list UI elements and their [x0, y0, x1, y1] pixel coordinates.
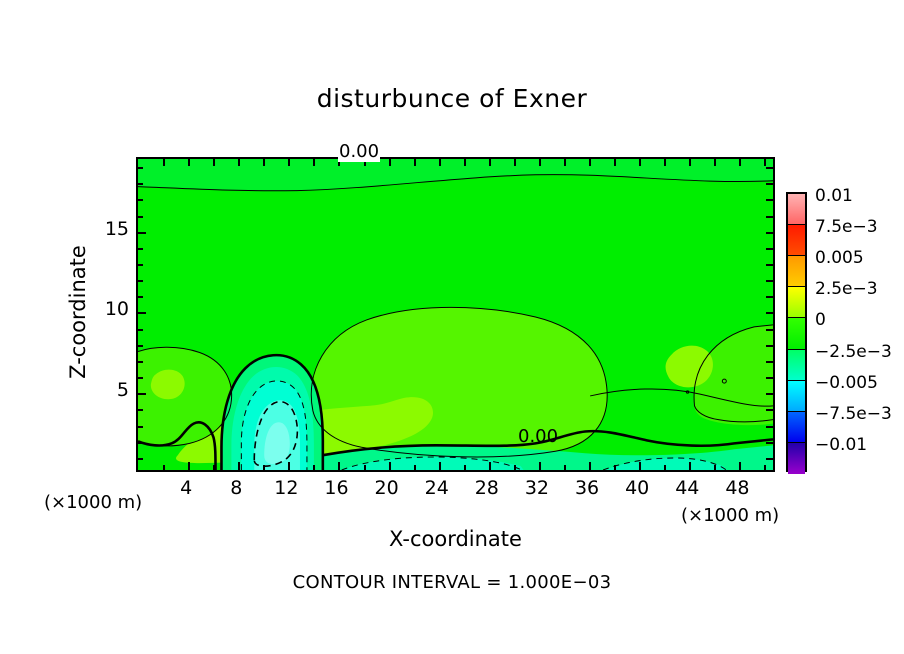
x-tick [238, 462, 240, 470]
y-tick [766, 393, 773, 395]
y-tick [766, 442, 773, 444]
x-tick [313, 465, 315, 470]
x-tick-label: 28 [462, 477, 512, 499]
x-tick-label: 20 [362, 477, 412, 499]
y-tick [766, 426, 773, 428]
x-tick-label: 40 [612, 477, 662, 499]
colorbar-tick-label: 7.5e−3 [815, 217, 878, 237]
colorbar-band[interactable] [788, 318, 805, 349]
x-tick [514, 159, 516, 166]
x-tick [263, 465, 265, 470]
x-tick [664, 159, 666, 166]
x-axis-title: X-coordinate [136, 527, 775, 551]
x-tick-label: 24 [412, 477, 462, 499]
y-tick [766, 264, 773, 266]
x-tick [714, 159, 716, 166]
y-tick [138, 442, 143, 444]
x-tick [439, 159, 441, 166]
y-tick [766, 312, 773, 314]
contour-label-zero-top: 0.00 [338, 141, 380, 162]
x-unit-left-label: (×1000 m) [44, 492, 142, 513]
y-tick [766, 296, 773, 298]
y-tick [138, 409, 143, 411]
y-tick [766, 345, 773, 347]
x-tick [364, 465, 366, 470]
colorbar[interactable] [786, 192, 807, 472]
x-tick-label: 8 [211, 477, 261, 499]
x-tick [188, 462, 190, 470]
x-tick [614, 159, 616, 166]
colorbar-tick-label: 0.01 [815, 186, 853, 206]
y-tick [138, 426, 143, 428]
colorbar-band[interactable] [788, 443, 805, 474]
page-title: disturbunce of Exner [0, 84, 904, 113]
contour-plot-area[interactable] [136, 157, 775, 472]
x-tick-label: 12 [261, 477, 311, 499]
colorbar-tick-label: −0.005 [815, 373, 878, 393]
y-tick [766, 361, 773, 363]
y-tick [138, 280, 143, 282]
x-tick [414, 159, 416, 166]
y-tick [138, 199, 143, 201]
x-tick-label: 16 [311, 477, 361, 499]
y-tick [138, 296, 143, 298]
x-tick [614, 465, 616, 470]
x-unit-right-label: (×1000 m) [681, 505, 779, 526]
x-tick [589, 159, 591, 166]
x-tick [689, 462, 691, 470]
x-tick-label: 36 [562, 477, 612, 499]
contour-label-zero-lower: 0.00 [518, 426, 558, 447]
y-tick [766, 183, 773, 185]
y-tick [138, 329, 143, 331]
x-tick [163, 465, 165, 470]
y-tick [138, 345, 143, 347]
y-tick-label: 10 [95, 298, 129, 320]
x-tick [439, 462, 441, 470]
colorbar-tick-label: 2.5e−3 [815, 279, 878, 299]
y-tick [766, 329, 773, 331]
y-tick [766, 167, 773, 169]
y-tick [138, 167, 143, 169]
y-tick [138, 393, 146, 395]
y-tick [766, 232, 773, 234]
x-tick-label: 4 [161, 477, 211, 499]
y-tick [138, 183, 143, 185]
x-tick [338, 462, 340, 470]
y-tick [138, 264, 143, 266]
y-tick [766, 216, 773, 218]
x-tick [539, 462, 541, 470]
x-tick [764, 159, 766, 166]
x-tick [313, 159, 315, 166]
colorbar-tick-label: 0.005 [815, 248, 864, 268]
x-tick [739, 159, 741, 166]
x-tick [238, 159, 240, 166]
y-tick [138, 248, 143, 250]
colorbar-band[interactable] [788, 225, 805, 256]
x-tick [213, 465, 215, 470]
y-tick [766, 409, 773, 411]
x-tick [764, 465, 766, 470]
x-tick [188, 159, 190, 166]
y-tick [138, 312, 146, 314]
x-tick [389, 159, 391, 166]
x-tick [263, 159, 265, 166]
x-tick [163, 159, 165, 166]
x-tick [414, 465, 416, 470]
x-tick [739, 462, 741, 470]
x-tick [639, 462, 641, 470]
x-tick [389, 462, 391, 470]
y-tick [138, 232, 146, 234]
x-tick [464, 159, 466, 166]
y-tick [138, 458, 143, 460]
colorbar-band[interactable] [788, 194, 805, 225]
x-tick [464, 465, 466, 470]
colorbar-band[interactable] [788, 256, 805, 287]
x-tick-label: 44 [662, 477, 712, 499]
y-tick [766, 199, 773, 201]
y-axis-title: Z-coordinate [66, 212, 90, 412]
contour-interval-label: CONTOUR INTERVAL = 1.000E−03 [0, 572, 904, 593]
x-tick [539, 159, 541, 166]
y-tick-label: 15 [95, 218, 129, 240]
colorbar-band[interactable] [788, 287, 805, 318]
x-tick [564, 465, 566, 470]
y-tick [138, 377, 143, 379]
x-tick [689, 159, 691, 166]
colorbar-tick-label: −2.5e−3 [815, 342, 892, 362]
x-tick [589, 462, 591, 470]
y-tick [766, 280, 773, 282]
x-tick [213, 159, 215, 166]
y-tick [138, 216, 143, 218]
colorbar-tick-label: −0.01 [815, 435, 867, 455]
x-tick-label: 32 [512, 477, 562, 499]
x-tick [288, 462, 290, 470]
colorbar-tick-label: −7.5e−3 [815, 404, 892, 424]
y-tick [138, 361, 143, 363]
x-tick-label: 48 [712, 477, 762, 499]
x-tick [639, 159, 641, 166]
contour-svg [138, 159, 773, 470]
x-tick [514, 465, 516, 470]
colorbar-band[interactable] [788, 350, 805, 381]
x-tick [664, 465, 666, 470]
x-tick [288, 159, 290, 166]
colorbar-band[interactable] [788, 381, 805, 412]
y-tick [766, 248, 773, 250]
colorbar-band[interactable] [788, 412, 805, 443]
x-tick [564, 159, 566, 166]
y-tick [766, 458, 773, 460]
y-tick [766, 377, 773, 379]
y-tick-label: 5 [95, 379, 129, 401]
colorbar-tick-label: 0 [815, 310, 826, 330]
x-tick [489, 159, 491, 166]
x-tick [714, 465, 716, 470]
x-tick [489, 462, 491, 470]
